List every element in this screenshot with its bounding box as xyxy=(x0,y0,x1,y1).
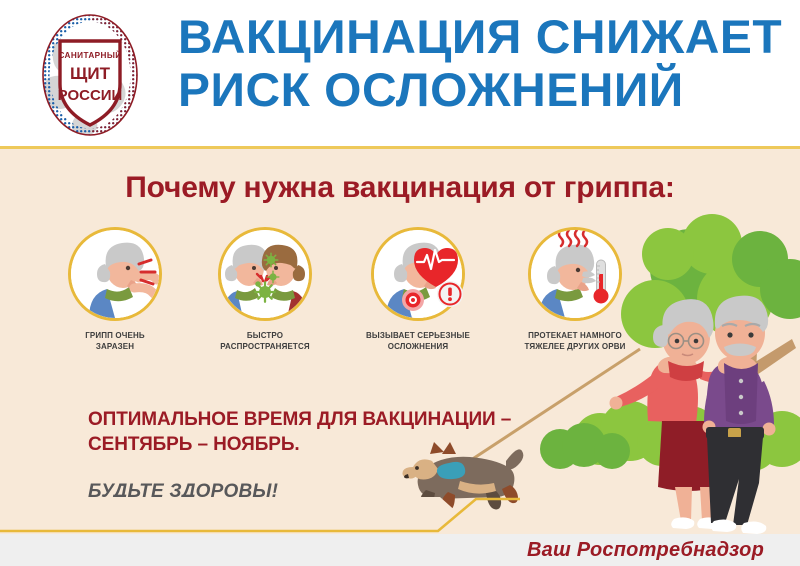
rospotrebnadzor-brand: Ваш Роспотребнадзор xyxy=(527,539,764,562)
elderly-man xyxy=(703,296,776,534)
fever-thermometer-icon xyxy=(528,227,622,321)
sanitary-shield-of-russia-logo: САНИТАРНЫЙ ЩИТ РОССИИ xyxy=(24,10,156,140)
callout-line-2: СЕНТЯБРЬ – НОЯБРЬ. xyxy=(88,432,508,457)
reason-item-contagious: ГРИПП ОЧЕНЬ ЗАРАЗЕН xyxy=(40,227,190,353)
poster-header: САНИТАРНЫЙ ЩИТ РОССИИ ВАКЦИНАЦИЯ СНИЖАЕТ… xyxy=(0,0,800,147)
optimal-time-callout: ОПТИМАЛЬНОЕ ВРЕМЯ ДЛЯ ВАКЦИНАЦИИ – СЕНТЯ… xyxy=(88,407,508,457)
coughing-person-icon xyxy=(68,227,162,321)
page-subheading: Почему нужна вакцинация от гриппа: xyxy=(0,171,800,205)
influenza-vaccination-poster: САНИТАРНЫЙ ЩИТ РОССИИ ВАКЦИНАЦИЯ СНИЖАЕТ… xyxy=(0,0,800,566)
svg-text:ЩИТ: ЩИТ xyxy=(70,64,111,83)
poster-body: Почему нужна вакцинация от гриппа: xyxy=(0,149,800,534)
title-line-1: ВАКЦИНАЦИЯ СНИЖАЕТ xyxy=(178,14,800,60)
reason-caption: ГРИПП ОЧЕНЬ ЗАРАЗЕН xyxy=(45,330,186,353)
reason-item-severe: ПРОТЕКАЕТ НАМНОГО ТЯЖЕЛЕЕ ДРУГИХ ОРВИ xyxy=(500,227,650,353)
footer-gold-divider xyxy=(0,497,520,539)
svg-text:РОССИИ: РОССИИ xyxy=(58,87,123,104)
reason-caption: БЫСТРО РАСПРОСТРАНЯЕТСЯ xyxy=(195,330,336,353)
poster-title: ВАКЦИНАЦИЯ СНИЖАЕТ РИСК ОСЛОЖНЕНИЙ xyxy=(178,14,788,113)
callout-line-1: ОПТИМАЛЬНОЕ ВРЕМЯ ДЛЯ ВАКЦИНАЦИИ – xyxy=(88,407,508,432)
reason-caption: ВЫЗЫВАЕТ СЕРЬЕЗНЫЕ ОСЛОЖНЕНИЯ xyxy=(348,330,489,353)
two-people-germs-icon xyxy=(218,227,312,321)
svg-text:САНИТАРНЫЙ: САНИТАРНЫЙ xyxy=(58,49,121,60)
reason-item-complications: ВЫЗЫВАЕТ СЕРЬЕЗНЫЕ ОСЛОЖНЕНИЯ xyxy=(343,227,493,353)
reason-caption: ПРОТЕКАЕТ НАМНОГО ТЯЖЕЛЕЕ ДРУГИХ ОРВИ xyxy=(505,330,646,353)
reason-item-spreads-fast: БЫСТРО РАСПРОСТРАНЯЕТСЯ xyxy=(190,227,340,353)
reasons-row: ГРИПП ОЧЕНЬ ЗАРАЗЕН xyxy=(40,227,660,372)
heart-ecg-warning-icon xyxy=(371,227,465,321)
title-line-2: РИСК ОСЛОЖНЕНИЙ xyxy=(178,67,800,113)
